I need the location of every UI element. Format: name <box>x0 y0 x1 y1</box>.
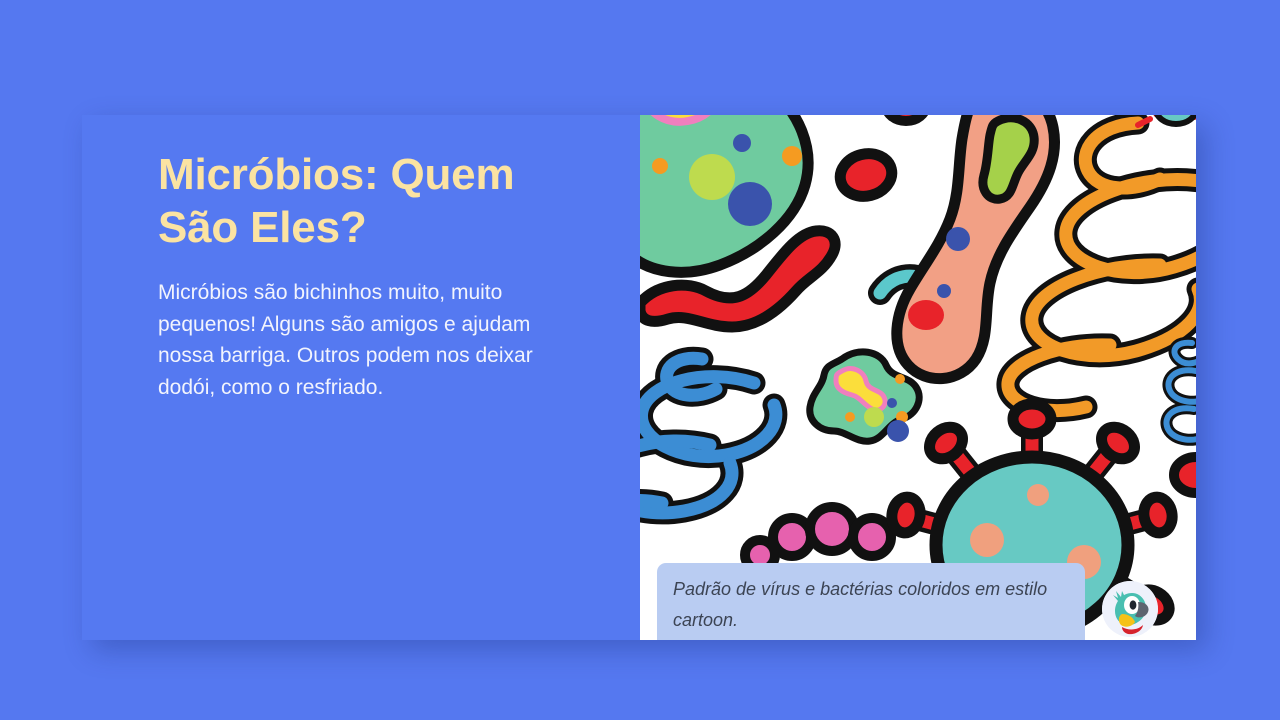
image-caption-box: Padrão de vírus e bactérias coloridos em… <box>657 563 1085 640</box>
slide-card: Micróbios: Quem São Eles? Micróbios são … <box>82 115 1196 640</box>
slide-title: Micróbios: Quem São Eles? <box>158 148 578 254</box>
parrot-avatar[interactable] <box>1102 581 1158 637</box>
slide-text-pane: Micróbios: Quem São Eles? Micróbios são … <box>82 115 640 640</box>
slide-viewer: Micróbios: Quem São Eles? Micróbios são … <box>0 0 1280 720</box>
slide-image-pane: Padrão de vírus e bactérias coloridos em… <box>640 115 1196 640</box>
cartoon-microbe-pattern-illustration <box>640 115 1196 640</box>
image-caption-text: Padrão de vírus e bactérias coloridos em… <box>673 574 1069 636</box>
slide-body-text: Micróbios são bichinhos muito, muito peq… <box>158 277 558 403</box>
parrot-icon <box>1102 581 1158 637</box>
